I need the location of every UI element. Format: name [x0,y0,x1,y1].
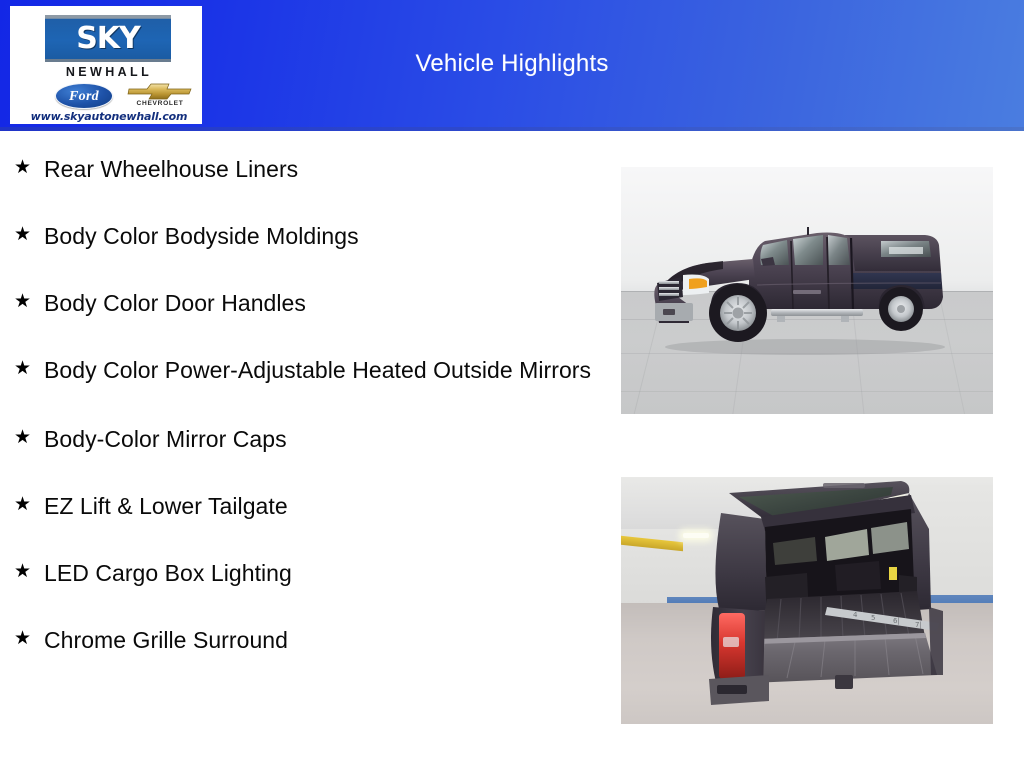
vehicle-highlights-list: ★Rear Wheelhouse Liners★Body Color Bodys… [14,152,606,690]
header-bottom-accent [0,127,1024,131]
star-bullet-icon: ★ [14,489,44,520]
vehicle-photo-exterior[interactable] [621,167,993,414]
star-bullet-icon: ★ [14,286,44,317]
feature-label: EZ Lift & Lower Tailgate [44,489,288,523]
feature-item: ★Body Color Power-Adjustable Heated Outs… [14,353,606,387]
star-bullet-icon: ★ [14,623,44,654]
feature-item: ★Rear Wheelhouse Liners [14,152,606,186]
svg-text:5: 5 [871,614,875,622]
feature-label: Body Color Door Handles [44,286,306,320]
sky-brand-plate: SKY [45,15,171,62]
feature-label: Body Color Power-Adjustable Heated Outsi… [44,353,591,387]
svg-text:4: 4 [853,611,858,619]
feature-item: ★Body Color Bodyside Moldings [14,219,606,253]
feature-item: ★EZ Lift & Lower Tailgate [14,489,606,523]
dealer-location-label: NEWHALL [13,65,202,79]
logo-inner-frame: SKY NEWHALL Ford [13,9,199,121]
feature-label: Body-Color Mirror Caps [44,422,287,456]
feature-item: ★LED Cargo Box Lighting [14,556,606,590]
feature-label: LED Cargo Box Lighting [44,556,292,590]
feature-item: ★Chrome Grille Surround [14,623,606,657]
ford-logo-icon: Ford [55,83,113,109]
feature-label: Chrome Grille Surround [44,623,288,657]
star-bullet-icon: ★ [14,353,44,384]
chevrolet-logo-label: CHEVROLET [125,100,195,107]
dealer-logo[interactable]: SKY NEWHALL Ford [10,6,202,124]
cargo-box-illustration: 45 6|7| [703,479,953,717]
feature-item: ★Body Color Door Handles [14,286,606,320]
feature-label: Body Color Bodyside Moldings [44,219,359,253]
star-bullet-icon: ★ [14,422,44,453]
star-bullet-icon: ★ [14,152,44,183]
feature-item: ★Body-Color Mirror Caps [14,422,606,456]
sky-brand-label: SKY [45,21,171,57]
star-bullet-icon: ★ [14,219,44,250]
vehicle-photo-cargo-box[interactable]: 45 6|7| [621,477,993,724]
chevrolet-bowtie-shape [127,83,193,100]
ford-logo-label: Ford [56,84,112,108]
dealer-website-label: www.skyautonewhall.com [13,110,202,123]
chevrolet-logo-icon: CHEVROLET [125,81,195,111]
page-header: Vehicle Highlights SKY NEWHALL Ford [0,0,1024,131]
feature-label: Rear Wheelhouse Liners [44,152,298,186]
svg-text:6|: 6| [893,617,900,625]
vehicle-exterior-illustration [645,205,965,355]
svg-text:7|: 7| [915,621,922,629]
star-bullet-icon: ★ [14,556,44,587]
